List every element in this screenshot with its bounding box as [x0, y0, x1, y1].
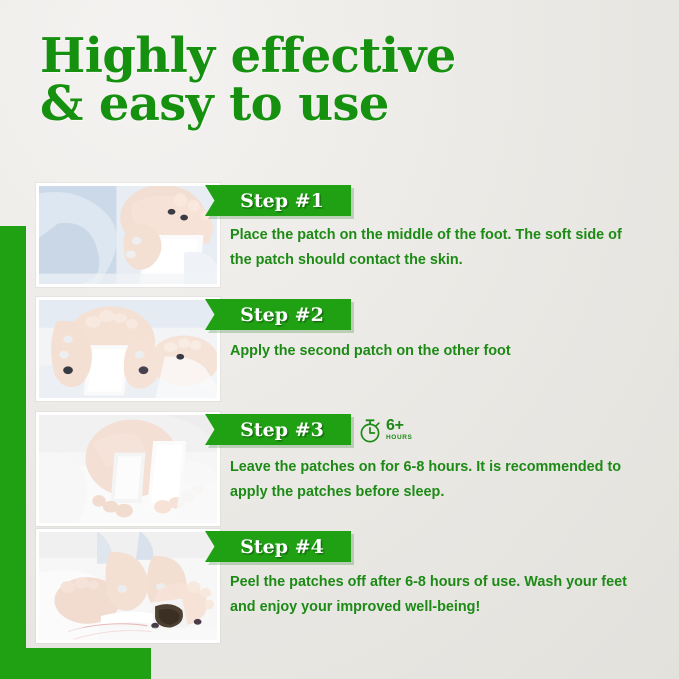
step-description-3: Leave the patches on for 6-8 hours. It i… [230, 455, 642, 505]
step-description-1: Place the patch on the middle of the foo… [230, 223, 642, 273]
hours-unit-label: HOURS [386, 435, 412, 442]
step-description-2: Apply the second patch on the other foot [230, 339, 642, 364]
step-label: Step #4 [232, 536, 324, 558]
decorative-green-vertical-bar [0, 226, 26, 679]
step-label: Step #2 [232, 304, 324, 326]
headline-line-2: & easy to use [40, 81, 640, 129]
step-image-4 [36, 529, 220, 643]
step-image-3 [36, 412, 220, 526]
step-label: Step #3 [232, 419, 324, 441]
decorative-green-bottom-bar [0, 648, 151, 679]
step-banner-4: Step #4 [205, 531, 351, 562]
step-banner-3: Step #3 [205, 414, 351, 445]
step-description-4: Peel the patches off after 6-8 hours of … [230, 570, 642, 620]
step-image-1 [36, 183, 220, 287]
stopwatch-icon [357, 416, 383, 444]
hours-number: 6+ [386, 418, 412, 434]
hours-badge: 6+ HOURS [357, 416, 412, 444]
step-image-2 [36, 297, 220, 401]
step-banner-1: Step #1 [205, 185, 351, 216]
page-title: Highly effective & easy to use [40, 33, 640, 128]
step-label: Step #1 [232, 190, 324, 212]
step-banner-2: Step #2 [205, 299, 351, 330]
